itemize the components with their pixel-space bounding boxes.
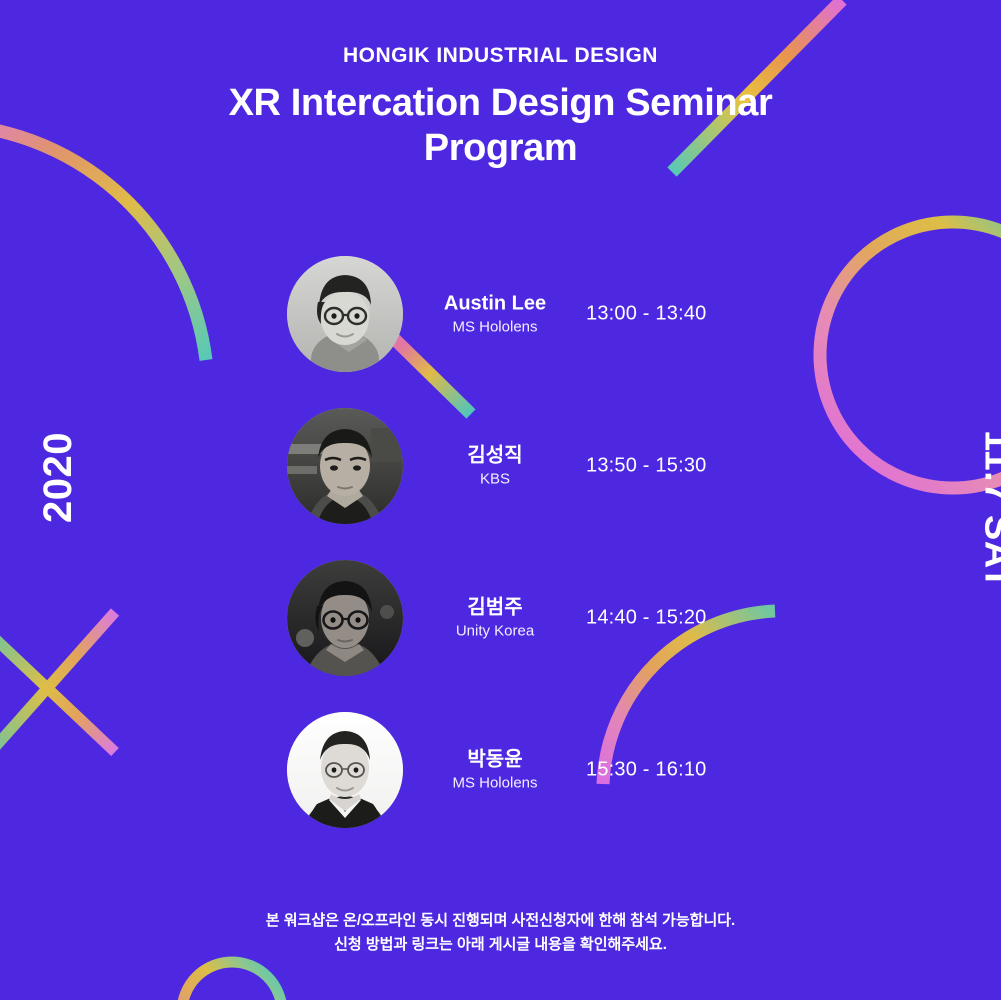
page-title-line-1: XR Intercation Design Seminar	[229, 82, 773, 124]
speaker-org: KBS	[420, 469, 570, 489]
photo-kim-seongjik-icon	[287, 408, 403, 524]
avatar	[287, 560, 403, 676]
speaker-schedule-list: Austin Lee MS Hololens 13:00 - 13:40	[0, 238, 1001, 846]
avatar	[287, 256, 403, 372]
poster-header: HONGIK INDUSTRIAL DESIGN XR Intercation …	[0, 0, 1001, 171]
avatar	[287, 712, 403, 828]
speaker-time: 14:40 - 15:20	[586, 607, 706, 630]
speaker-row: Austin Lee MS Hololens 13:00 - 13:40	[0, 238, 1001, 390]
date-label: 11.7 SAT	[979, 430, 1001, 590]
speaker-row: 김성직 KBS 13:50 - 15:30	[0, 390, 1001, 542]
speaker-meta: 박동윤 MS Hololens	[420, 747, 570, 793]
poster-canvas: HONGIK INDUSTRIAL DESIGN XR Intercation …	[0, 0, 1001, 1000]
speaker-meta: 김범주 Unity Korea	[420, 595, 570, 641]
speaker-org: Unity Korea	[420, 621, 570, 641]
photo-kim-beomju-icon	[287, 560, 403, 676]
page-title: XR Intercation Design Seminar Program	[0, 67, 1001, 171]
speaker-name: Austin Lee	[420, 291, 570, 316]
speaker-time: 13:00 - 13:40	[586, 303, 706, 326]
speaker-time: 15:30 - 16:10	[586, 759, 706, 782]
footer-note-line-2: 신청 방법과 링크는 아래 게시글 내용을 확인해주세요.	[0, 933, 1001, 958]
speaker-meta: 김성직 KBS	[420, 443, 570, 489]
speaker-org: MS Hololens	[420, 773, 570, 793]
speaker-time: 13:50 - 15:30	[586, 455, 706, 478]
speaker-row: 김범주 Unity Korea 14:40 - 15:20	[0, 542, 1001, 694]
speaker-row: 박동윤 MS Hololens 15:30 - 16:10	[0, 694, 1001, 846]
organization-label: HONGIK INDUSTRIAL DESIGN	[0, 0, 1001, 67]
photo-austin-lee-icon	[287, 256, 403, 372]
year-label: 2020	[38, 432, 78, 523]
speaker-org: MS Hololens	[420, 317, 570, 337]
avatar	[287, 408, 403, 524]
speaker-name: 김성직	[420, 443, 570, 468]
poster-footer: 본 워크샵은 온/오프라인 동시 진행되며 사전신청자에 한해 참석 가능합니다…	[0, 909, 1001, 959]
speaker-name: 김범주	[420, 595, 570, 620]
ring-bottom-left-icon	[182, 962, 282, 1000]
speaker-meta: Austin Lee MS Hololens	[420, 291, 570, 337]
photo-park-dongyun-icon	[287, 712, 403, 828]
page-title-line-2: Program	[424, 127, 577, 169]
speaker-name: 박동윤	[420, 747, 570, 772]
footer-note-line-1: 본 워크샵은 온/오프라인 동시 진행되며 사전신청자에 한해 참석 가능합니다…	[0, 909, 1001, 934]
